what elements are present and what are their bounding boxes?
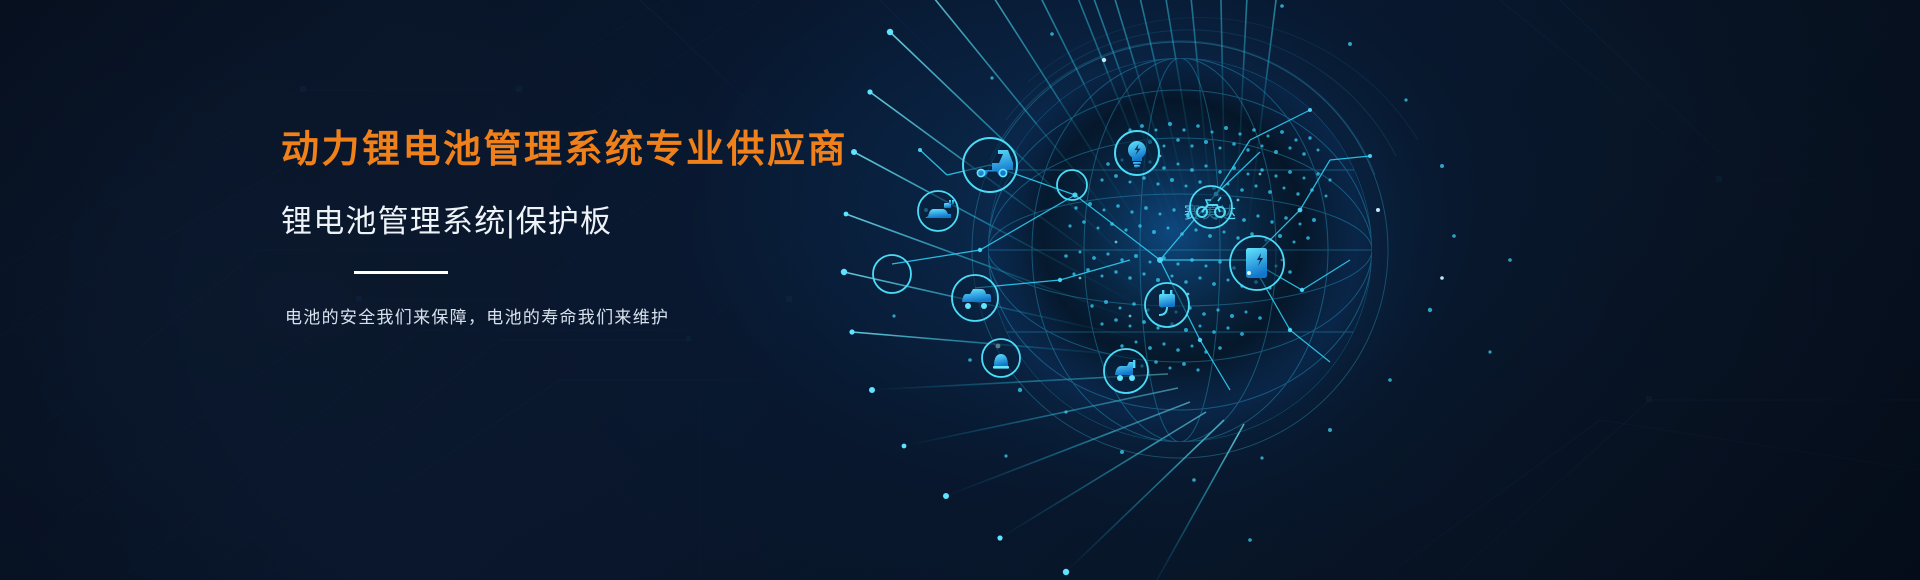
banner-divider <box>354 271 448 274</box>
banner-tagline: 电池的安全我们来保障，电池的寿命我们来维护 <box>285 303 901 328</box>
node-battery-pack[interactable] <box>1230 236 1284 290</box>
battery-pack-icon <box>1246 248 1267 278</box>
node-forklift[interactable] <box>1104 349 1148 393</box>
node-scooter[interactable] <box>963 138 1017 192</box>
node-ev-charging-car[interactable] <box>918 191 958 231</box>
node-charger[interactable] <box>982 339 1020 377</box>
node-lightbulb[interactable] <box>1115 131 1159 175</box>
node-motorcycle[interactable] <box>1190 186 1232 228</box>
banner-subheadline: 锂电池管理系统|保护板 <box>281 203 901 240</box>
node-car[interactable] <box>952 275 998 321</box>
banner-headline: 动力锂电池管理系统专业供应商 <box>281 128 901 174</box>
globe-svg: 赛美达 <box>830 0 1530 580</box>
banner-text-block: 动力锂电池管理系统专业供应商 锂电池管理系统|保护板 电池的安全我们来保障，电池… <box>281 128 901 328</box>
node-power-plug[interactable] <box>1145 283 1189 327</box>
globe-network-graphic: 赛美达 <box>830 0 1530 580</box>
hero-banner: 动力锂电池管理系统专业供应商 锂电池管理系统|保护板 电池的安全我们来保障，电池… <box>0 0 1920 580</box>
